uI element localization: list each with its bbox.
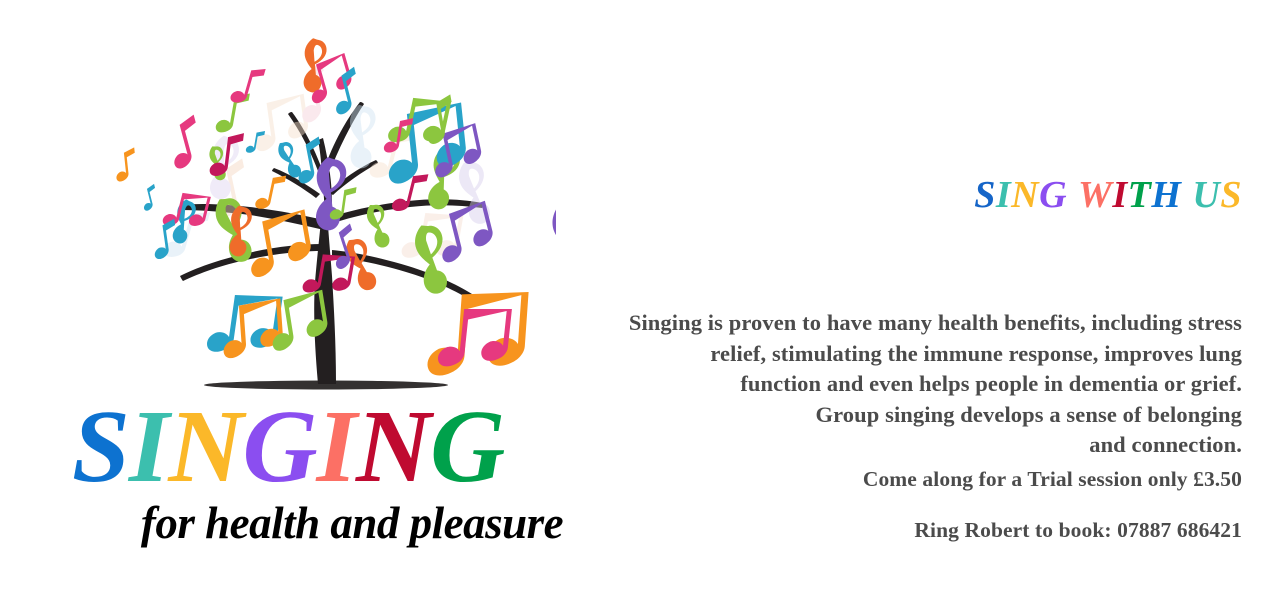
sing-with-us-letter-10: U [1192,174,1220,216]
sing-with-us-headline: SING WITH US [0,176,1242,214]
sing-with-us-letter-7: T [1128,174,1152,216]
poster-canvas: SING WITH US Singing is proven to have m… [0,0,1280,603]
sing-with-us-letter-0: S [974,174,996,216]
singing-letter-1: I [129,389,168,504]
tagline: for health and pleasure [72,500,632,547]
singing-letter-3: G [242,389,316,504]
paragraph-line-2: function and even helps people in dement… [470,369,1242,400]
singing-letter-4: I [317,389,356,504]
sing-with-us-letter-2: N [1011,174,1039,216]
sing-with-us-letter-5: W [1078,174,1112,216]
singing-letter-0: S [72,389,129,504]
singing-letter-6: G [430,389,504,504]
sing-with-us-letter-6: I [1112,174,1127,216]
paragraph-line-1: relief, stimulating the immune response,… [470,339,1242,370]
singing-wordmark: SINGING [72,398,632,496]
paragraph-line-0: Singing is proven to have many health be… [470,308,1242,339]
singing-letter-2: N [168,389,242,504]
sing-with-us-letter-1: I [996,174,1011,216]
sing-with-us-letter-11: S [1220,174,1242,216]
sing-with-us-letter-3: G [1039,174,1067,216]
singing-letter-5: N [356,389,430,504]
sing-with-us-letter-8: H [1151,174,1181,216]
